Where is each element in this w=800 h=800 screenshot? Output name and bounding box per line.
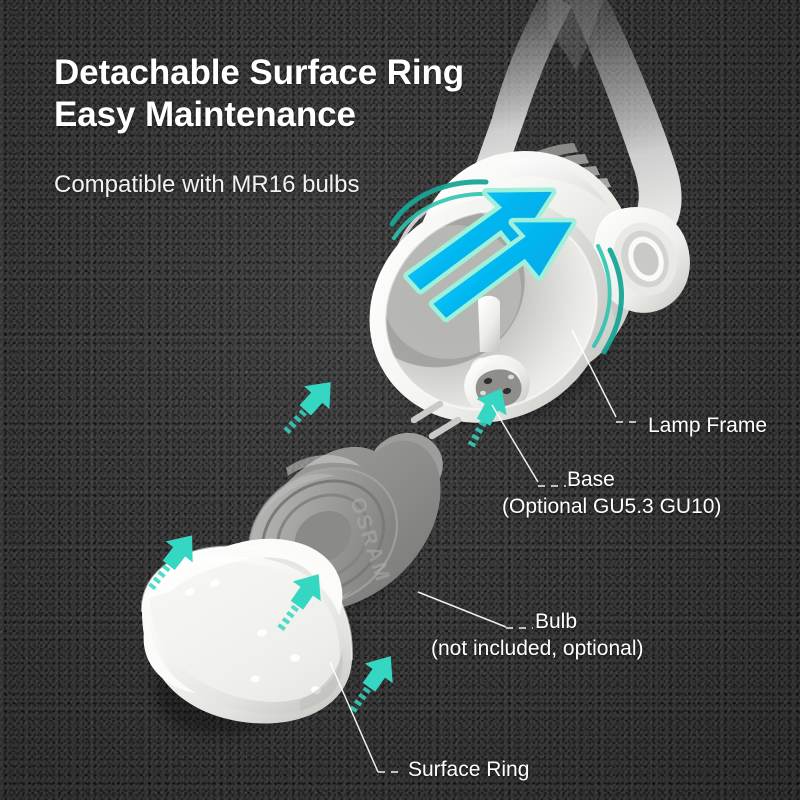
callout-surface-ring-label: Surface Ring <box>408 757 529 783</box>
callout-lamp-frame: Lamp Frame <box>648 413 767 439</box>
callout-bulb-sublabel: (not included, optional) <box>431 635 643 662</box>
callout-base-sublabel: (Optional GU5.3 GU10) <box>502 493 721 520</box>
headline-line-1: Detachable Surface Ring <box>54 52 574 94</box>
callout-lamp-frame-label: Lamp Frame <box>648 413 767 439</box>
infographic-canvas: OSRAM <box>0 0 800 800</box>
leader-surface-ring <box>330 662 378 772</box>
callout-bulb: Bulb (not included, optional) <box>535 609 643 662</box>
callout-base: Base (Optional GU5.3 GU10) <box>567 467 721 520</box>
page-title: Detachable Surface Ring Easy Maintenance <box>54 52 574 136</box>
leader-lamp-frame <box>572 330 616 417</box>
headline-line-2: Easy Maintenance <box>54 94 574 136</box>
callout-base-label: Base <box>567 467 721 493</box>
leader-base <box>492 405 538 482</box>
callout-surface-ring: Surface Ring <box>408 757 529 783</box>
leader-bulb <box>418 592 506 627</box>
subtitle: Compatible with MR16 bulbs <box>54 170 359 200</box>
callout-bulb-label: Bulb <box>535 609 643 635</box>
